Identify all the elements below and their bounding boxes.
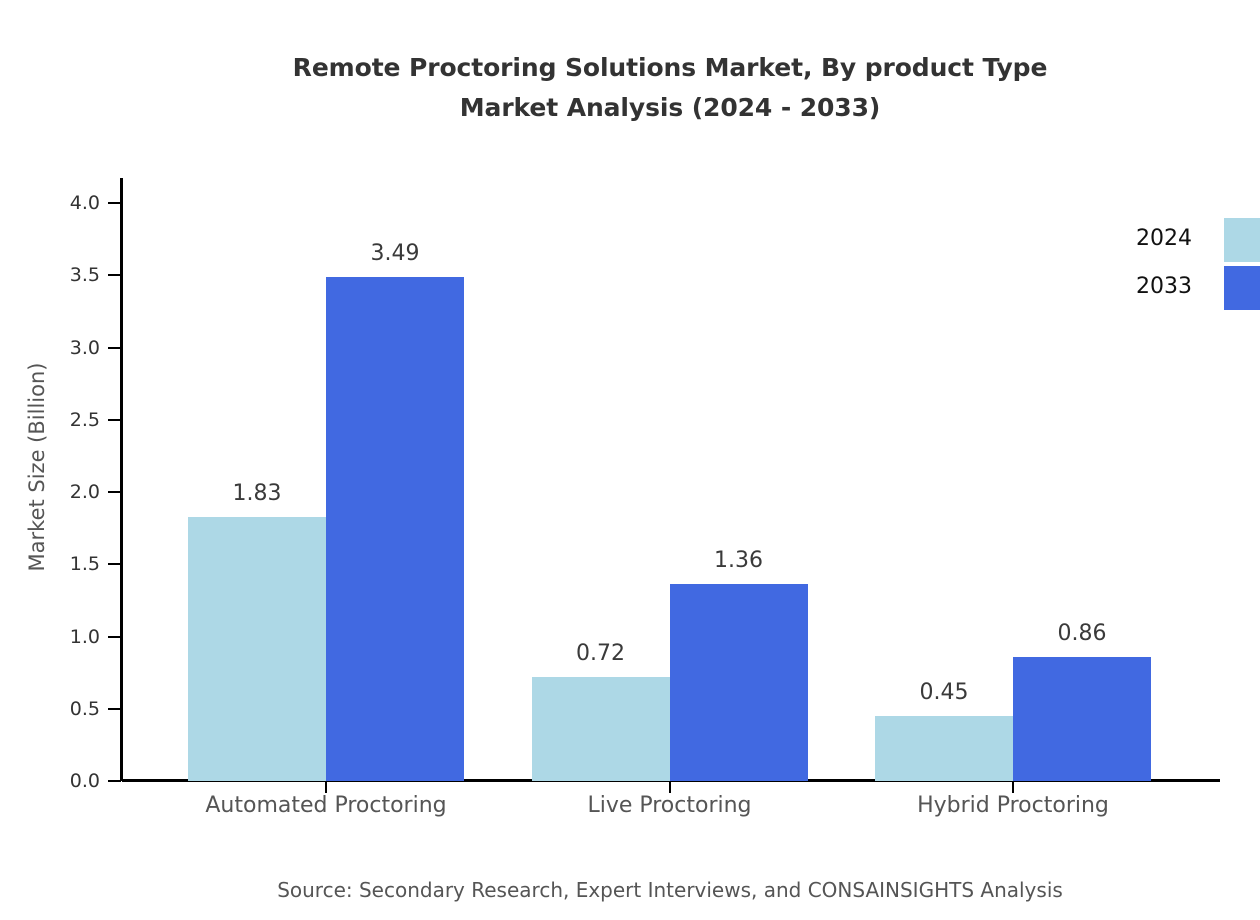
y-tick-label: 1.5 [28,555,100,574]
bar-2033-0[interactable] [326,277,464,781]
x-tick-mark [1012,781,1014,793]
y-tick-label: 2.0 [28,483,100,502]
bar-value-label: 1.36 [659,548,819,573]
y-tick-mark [108,419,121,421]
x-tick-label-0: Automated Proctoring [166,793,486,818]
legend-item-2024[interactable]: 2024 [1030,218,1260,262]
chart-canvas: Remote Proctoring Solutions Market, By p… [0,0,1260,920]
chart-title: Remote Proctoring Solutions Market, By p… [0,48,1260,128]
y-tick-label: 4.0 [28,194,100,213]
y-tick-mark [108,563,121,565]
y-tick-mark [108,491,121,493]
y-tick-label: 0.5 [28,700,100,719]
bar-value-label: 0.72 [521,641,681,666]
x-tick-label-2: Hybrid Proctoring [853,793,1173,818]
y-tick-mark [108,274,121,276]
source-note: Source: Secondary Research, Expert Inter… [0,878,1260,902]
bar-2024-2[interactable] [875,716,1013,781]
bar-value-label: 1.83 [177,481,337,506]
y-tick-mark [108,780,121,782]
bar-2033-2[interactable] [1013,657,1151,781]
bar-value-label: 0.45 [864,680,1024,705]
y-tick-label: 3.0 [28,339,100,358]
y-axis-spine [120,178,123,781]
legend-swatch [1224,218,1260,262]
legend-item-2033[interactable]: 2033 [1030,266,1260,310]
y-tick-label: 0.0 [28,772,100,791]
y-tick-label: 2.5 [28,411,100,430]
x-tick-label-1: Live Proctoring [510,793,830,818]
y-tick-mark [108,708,121,710]
legend-label: 2033 [1030,274,1192,299]
y-tick-mark [108,636,121,638]
x-tick-mark [669,781,671,793]
bar-2024-1[interactable] [532,677,670,781]
bar-2033-1[interactable] [670,584,808,781]
y-tick-mark [108,202,121,204]
y-tick-label: 3.5 [28,266,100,285]
legend-swatch [1224,266,1260,310]
y-tick-mark [108,347,121,349]
bar-2024-0[interactable] [188,517,326,781]
bar-value-label: 3.49 [315,241,475,266]
y-tick-label: 1.0 [28,628,100,647]
legend: 20242033 [1030,218,1260,310]
legend-label: 2024 [1030,226,1192,251]
bar-value-label: 0.86 [1002,621,1162,646]
x-tick-mark [325,781,327,793]
